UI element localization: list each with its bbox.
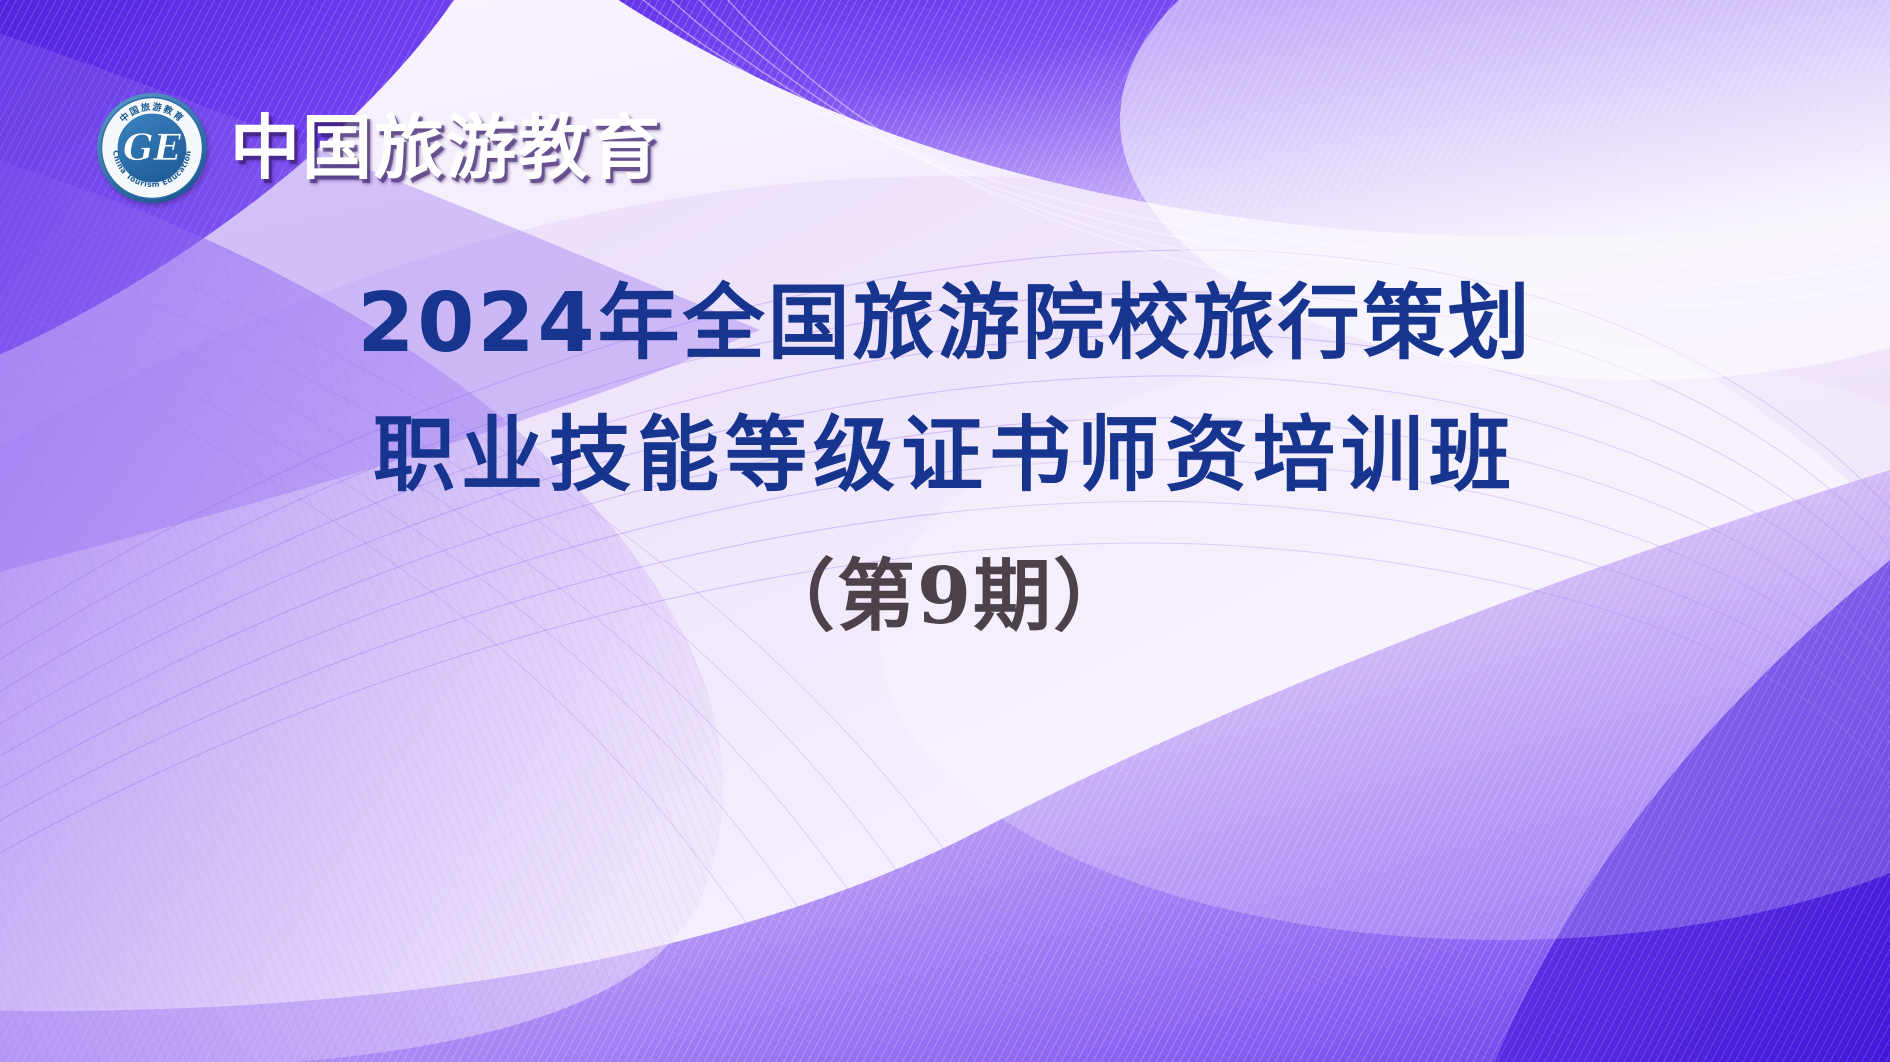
banner-canvas: 中国旅游教育 China Tourism Education GE 中国旅游教育… — [0, 0, 1890, 1062]
brand-lockup: 中国旅游教育 China Tourism Education GE 中国旅游教育 — [96, 92, 662, 204]
headline-edition: （第9期） — [60, 522, 1830, 672]
headline-line-1: 2024年全国旅游院校旅行策划 — [60, 258, 1830, 390]
brand-name: 中国旅游教育 — [230, 113, 662, 183]
headline-block: 2024年全国旅游院校旅行策划 职业技能等级证书师资培训班 （第9期） — [0, 258, 1890, 672]
svg-text:GE: GE — [123, 127, 182, 169]
headline-line-2: 职业技能等级证书师资培训班 — [60, 390, 1830, 522]
china-tourism-education-seal-icon: 中国旅游教育 China Tourism Education GE — [96, 92, 208, 204]
